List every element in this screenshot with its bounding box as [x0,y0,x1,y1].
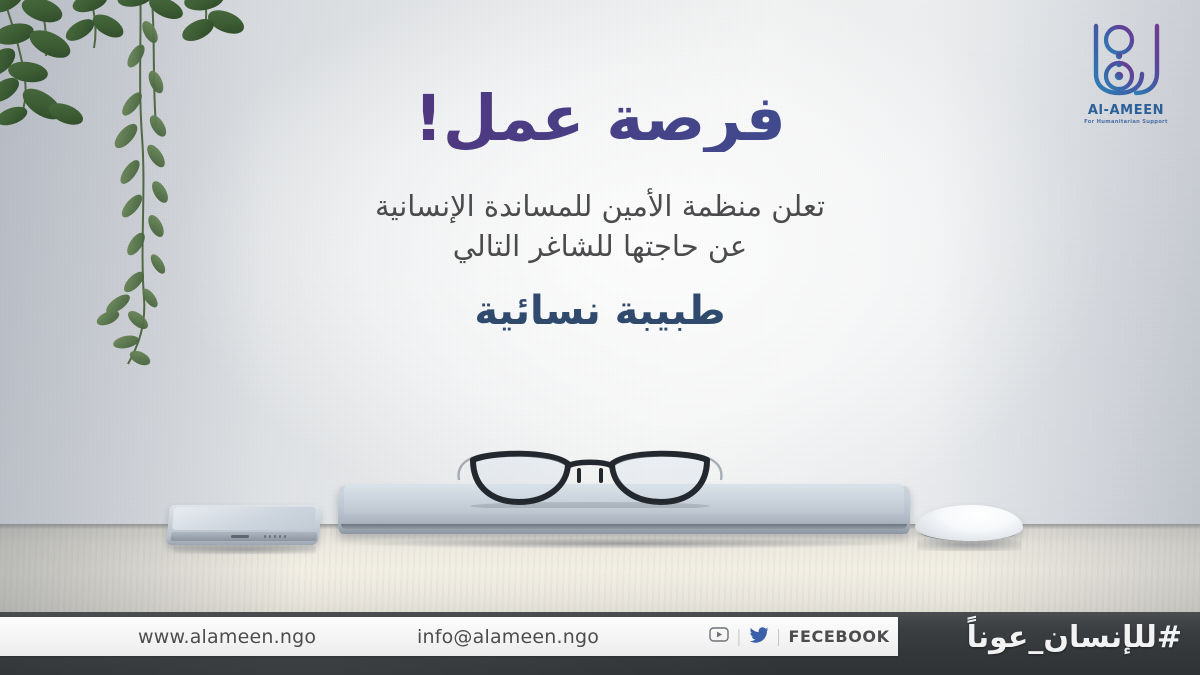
social-links: | | FECEBOOK [709,627,890,647]
smartphone-charging-port [231,535,249,538]
smartphone-shadow [174,545,316,554]
website-link[interactable]: www.alameen.ngo [138,626,316,648]
laptop-seam [341,524,907,529]
logo-tagline: For Humanitarian Support [1074,119,1178,125]
campaign-hashtag: #للإنسان_عوناً [967,620,1182,655]
laptop-shadow [358,538,892,549]
youtube-icon[interactable] [709,627,729,646]
organization-logo: Al-AMEEN For Humanitarian Support [1074,18,1178,130]
announcement-body: تعلن منظمة الأمين للمساندة الإنسانية عن … [0,186,1200,266]
facebook-label[interactable]: FECEBOOK [788,627,889,646]
logo-name: Al-AMEEN [1074,103,1178,118]
job-vacancy-poster: فرصة عمل! تعلن منظمة الأمين للمساندة الإ… [0,0,1200,675]
computer-mouse [915,505,1023,553]
page-title: فرصة عمل! [0,86,1200,152]
alameen-monogram-icon [1074,18,1178,98]
separator: | [776,627,782,647]
announcement-line-1: تعلن منظمة الأمين للمساندة الإنسانية [0,186,1200,226]
twitter-icon[interactable] [749,627,769,647]
announcement-line-2: عن حاجتها للشاغر التالي [0,226,1200,266]
eyeglasses-icon [455,440,725,508]
email-link[interactable]: info@alameen.ngo [417,626,599,648]
smartphone-face [172,507,316,530]
smartphone [168,505,320,553]
job-title: طبيبة نسائية [0,288,1200,334]
footer-bar-contact: www.alameen.ngo info@alameen.ngo | | FEC… [0,617,898,656]
separator: | [736,627,742,647]
computer-mouse-body [915,505,1023,541]
